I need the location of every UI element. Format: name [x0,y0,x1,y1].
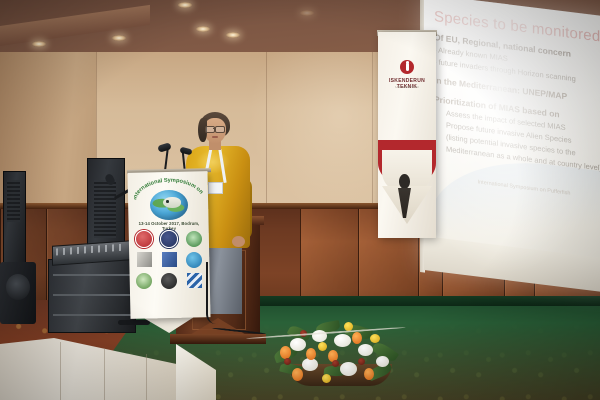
rack-rail [53,274,131,276]
pa-speaker-grill [7,180,20,222]
pufferfish-eye-icon [166,200,169,203]
downlight-icon [300,10,314,16]
downlight-icon [196,26,210,32]
sponsor-logo [158,230,180,247]
sponsor-logo [158,272,180,289]
rollup-figure-head-icon [399,174,410,189]
downlight-icon [32,41,46,47]
sponsor-logo [183,230,205,247]
conference-badge [208,182,223,194]
sponsor-logo [183,251,205,268]
sponsor-logo [133,230,155,247]
eyeglasses-bridge-icon [213,128,215,129]
cloth-fold [146,354,147,400]
sponsor-logo [158,251,180,268]
podium-cable [206,262,218,324]
downlight-icon [226,32,240,38]
speaker-cone-icon [6,274,30,300]
sponsor-logo [133,251,155,268]
conference-photo: Species to be monitored Of EU, Regional,… [0,0,600,400]
eyeglasses-lens-right-icon [215,126,225,133]
cloth-fold [104,348,105,400]
slide-footer: International Symposium on Pufferfish [434,174,600,202]
downlight-icon [178,2,192,8]
pufferfish-icon [163,197,181,208]
sponsor-logo [183,272,205,289]
iskenderun-logo-bar-icon [406,63,409,71]
rollup-organization-subtitle: UNIVERSITESI [380,85,434,89]
cloth-fold [60,342,61,400]
sponsor-logo-grid [133,230,205,289]
speaker-mouth [212,136,218,138]
presentation-slide: Species to be monitored Of EU, Regional,… [434,8,600,276]
speaker-hand [232,236,245,247]
sponsor-logo [133,272,155,289]
symposium-banner-point [143,316,195,333]
rack-rail [53,294,131,296]
downlight-icon [112,35,126,41]
rack-rail [53,314,131,316]
pa-speaker-grill [94,180,116,238]
podium-base [170,334,266,344]
